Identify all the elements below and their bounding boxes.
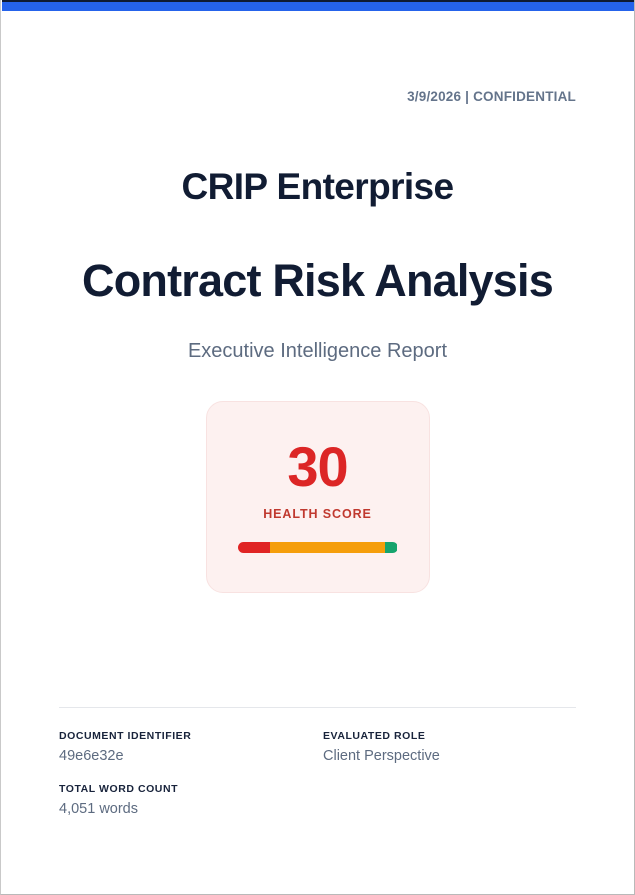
footer-divider (59, 707, 576, 708)
page-title-primary: CRIP Enterprise (59, 167, 576, 208)
health-score-card: 30 HEALTH SCORE (206, 401, 430, 593)
metadata-value: 49e6e32e (59, 748, 323, 764)
report-cover-page: 3/9/2026 | CONFIDENTIAL CRIP Enterprise … (0, 0, 635, 895)
cover-content: 3/9/2026 | CONFIDENTIAL CRIP Enterprise … (1, 11, 634, 894)
health-score-bar-segment-warning (270, 542, 385, 553)
health-score-value: 30 (287, 440, 347, 493)
metadata-item-evaluated-role: EVALUATED ROLE Client Perspective (323, 730, 576, 764)
metadata-value: 4,051 words (59, 801, 323, 817)
top-accent-bar (2, 2, 634, 11)
page-subtitle: Executive Intelligence Report (59, 339, 576, 363)
metadata-item-total-word-count: TOTAL WORD COUNT 4,051 words (59, 783, 323, 817)
metadata-label: TOTAL WORD COUNT (59, 783, 323, 795)
health-score-label: HEALTH SCORE (263, 507, 372, 521)
metadata-item-document-identifier: DOCUMENT IDENTIFIER 49e6e32e (59, 730, 323, 764)
page-title-secondary: Contract Risk Analysis (59, 256, 576, 306)
metadata-item-empty (323, 783, 576, 817)
metadata-grid: DOCUMENT IDENTIFIER 49e6e32e EVALUATED R… (59, 730, 576, 817)
score-card-wrapper: 30 HEALTH SCORE (59, 401, 576, 593)
metadata-label: EVALUATED ROLE (323, 730, 576, 742)
document-header-meta: 3/9/2026 | CONFIDENTIAL (59, 89, 576, 104)
health-score-bar-segment-healthy (385, 542, 398, 553)
health-score-bar (238, 542, 398, 553)
title-block: CRIP Enterprise Contract Risk Analysis E… (59, 167, 576, 363)
metadata-value: Client Perspective (323, 748, 576, 764)
health-score-bar-segment-critical (238, 542, 270, 553)
metadata-label: DOCUMENT IDENTIFIER (59, 730, 323, 742)
